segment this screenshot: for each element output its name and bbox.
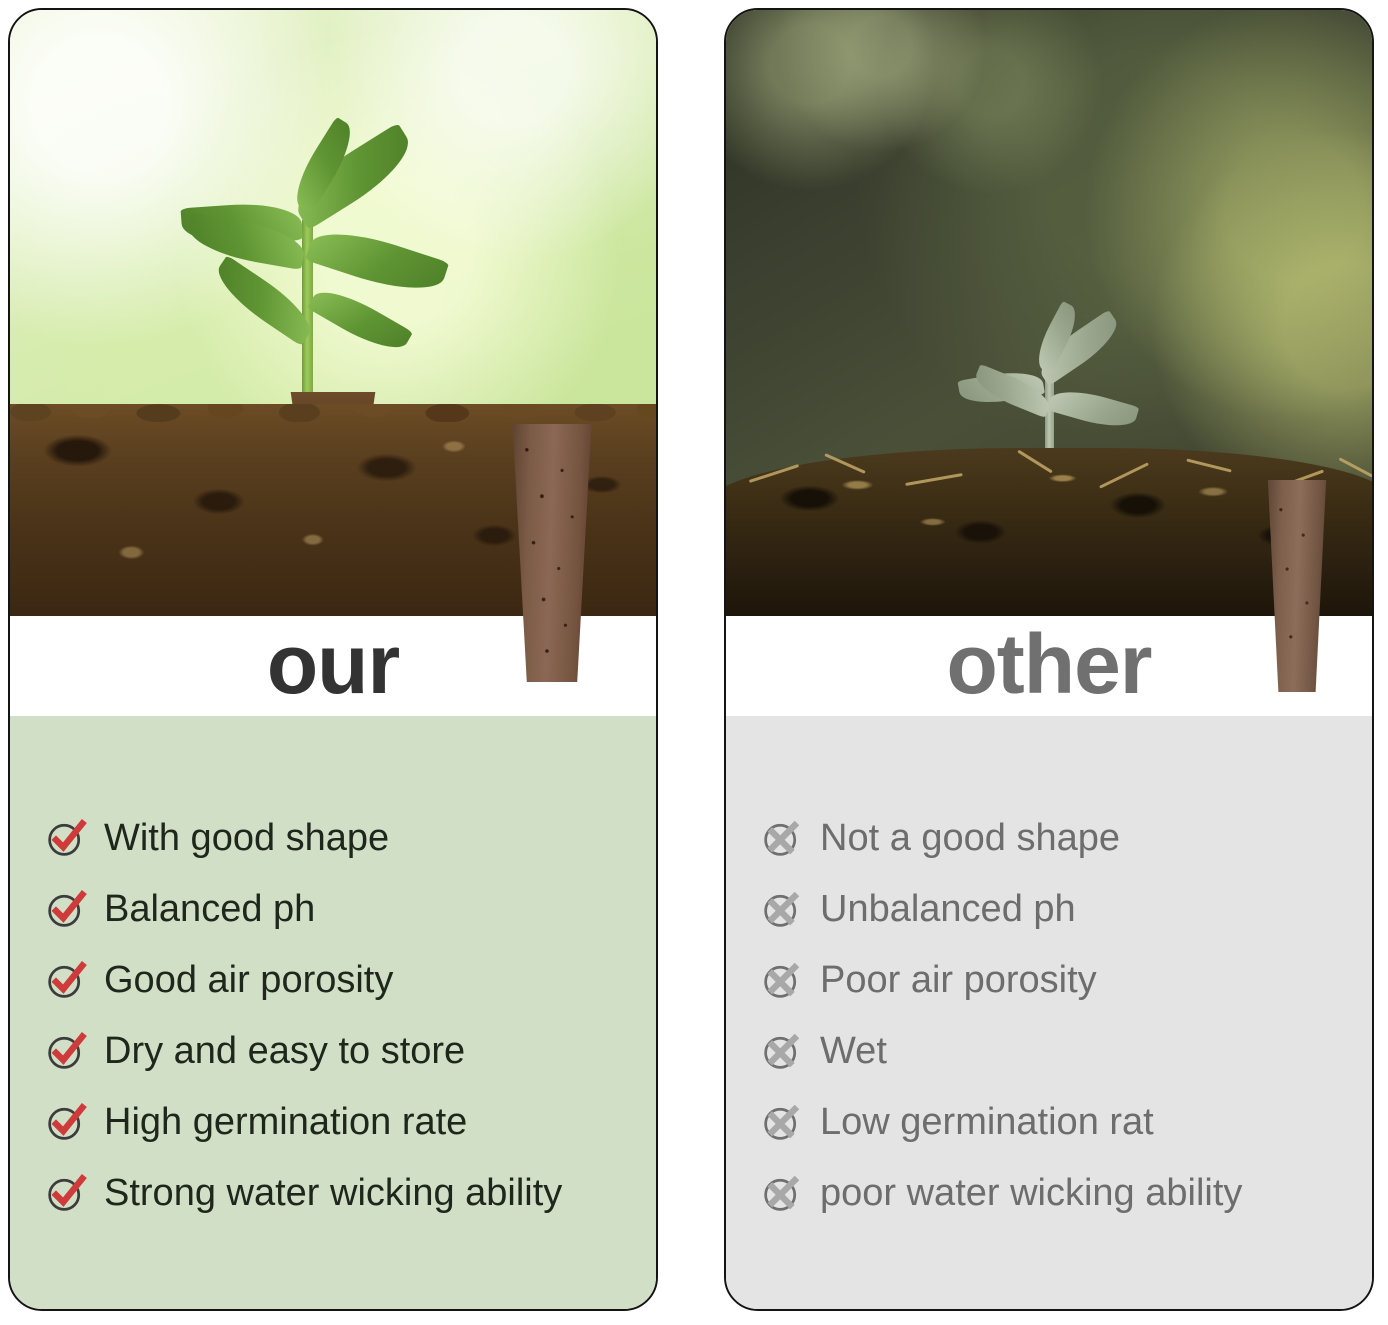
feature-label: Poor air porosity — [820, 961, 1097, 999]
feature-item: Poor air porosity — [762, 944, 1372, 1015]
feature-label: Good air porosity — [104, 961, 393, 999]
cross-circle-icon — [762, 1102, 802, 1142]
check-circle-icon — [46, 1173, 86, 1213]
feature-item: Balanced ph — [46, 873, 656, 944]
feature-label: Balanced ph — [104, 890, 315, 928]
label-band-other: other — [726, 616, 1372, 716]
check-circle-icon — [46, 818, 86, 858]
feature-item: Good air porosity — [46, 944, 656, 1015]
feature-item: High germination rate — [46, 1086, 656, 1157]
check-circle-icon — [46, 889, 86, 929]
feature-item: Strong water wicking ability — [46, 1157, 656, 1228]
feature-item: Dry and easy to store — [46, 1015, 656, 1086]
product-photo-other — [726, 10, 1372, 616]
feature-label: Low germination rat — [820, 1103, 1154, 1141]
feature-item: With good shape — [46, 802, 656, 873]
feature-panel-our: With good shape Balanced ph Good air por… — [10, 716, 656, 1309]
feature-label: poor water wicking ability — [820, 1174, 1242, 1212]
feature-label: Unbalanced ph — [820, 890, 1076, 928]
cross-circle-icon — [762, 960, 802, 1000]
feature-item: Low germination rat — [762, 1086, 1372, 1157]
feature-label: High germination rate — [104, 1103, 467, 1141]
straw-bit — [1017, 450, 1053, 474]
straw-bit — [905, 473, 963, 486]
card-label-other: other — [947, 622, 1152, 706]
card-label-our: our — [267, 622, 399, 706]
feature-label: Not a good shape — [820, 819, 1120, 857]
cross-circle-icon — [762, 889, 802, 929]
feature-item: Not a good shape — [762, 802, 1372, 873]
comparison-board: our With good shape Balanced ph — [0, 0, 1388, 1325]
comparison-card-our: our With good shape Balanced ph — [8, 8, 658, 1311]
straw-bit — [1099, 462, 1149, 488]
check-circle-icon — [46, 1102, 86, 1142]
feature-item: Wet — [762, 1015, 1372, 1086]
feature-item: Unbalanced ph — [762, 873, 1372, 944]
cross-circle-icon — [762, 1173, 802, 1213]
check-circle-icon — [46, 960, 86, 1000]
feature-panel-other: Not a good shape Unbalanced ph — [726, 716, 1372, 1309]
feature-label: Strong water wicking ability — [104, 1174, 562, 1212]
feature-list-other: Not a good shape Unbalanced ph — [762, 802, 1372, 1228]
feature-list-our: With good shape Balanced ph Good air por… — [46, 802, 656, 1228]
comparison-card-other: other Not a good shape — [724, 8, 1374, 1311]
feature-label: Dry and easy to store — [104, 1032, 465, 1070]
feature-item: poor water wicking ability — [762, 1157, 1372, 1228]
cross-circle-icon — [762, 1031, 802, 1071]
product-photo-our — [10, 10, 656, 616]
feature-label: Wet — [820, 1032, 887, 1070]
check-circle-icon — [46, 1031, 86, 1071]
cross-circle-icon — [762, 818, 802, 858]
feature-label: With good shape — [104, 819, 389, 857]
straw-bit — [1186, 458, 1231, 472]
